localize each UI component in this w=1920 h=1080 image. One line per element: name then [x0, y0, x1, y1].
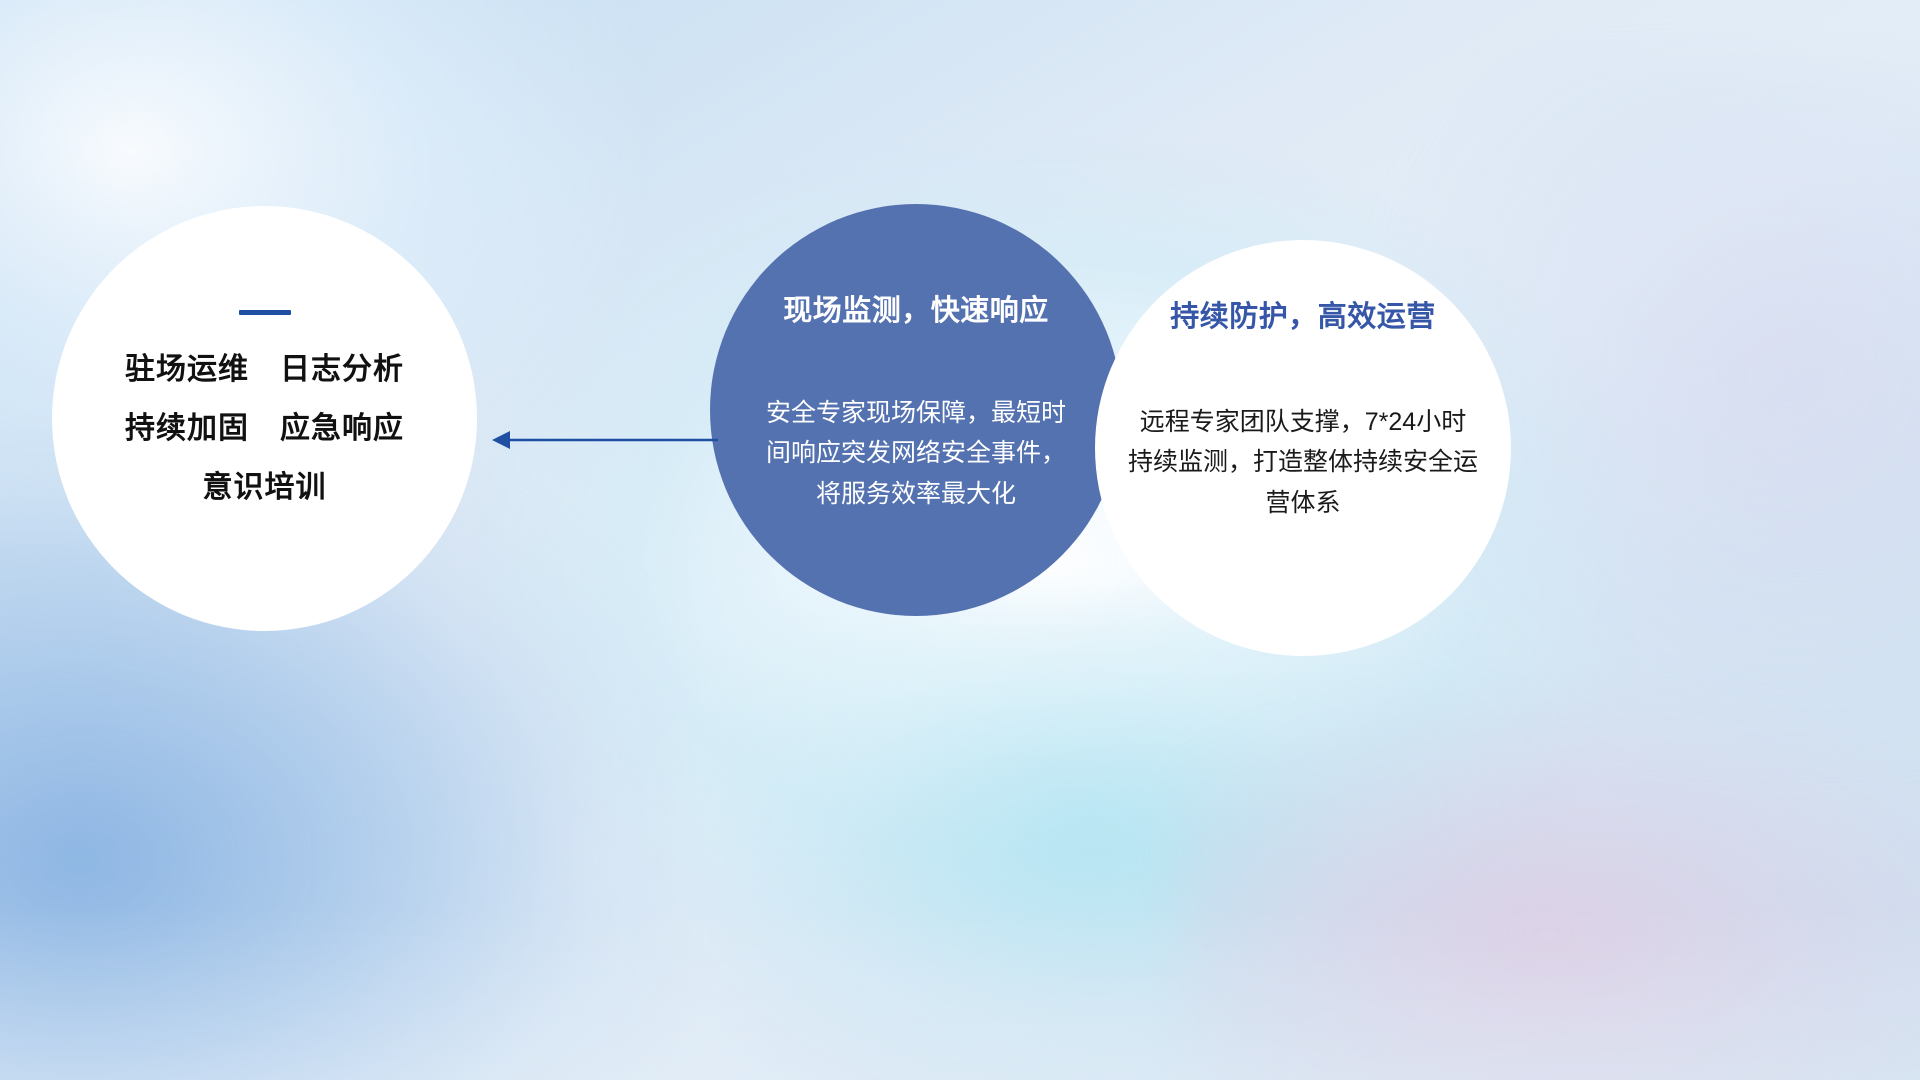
right-circle-title: 持续防护，高效运营	[1170, 302, 1436, 334]
slide-canvas: 驻场运维 日志分析 持续加固 应急响应 意识培训 现场监测，快速响应 安全专家现…	[0, 0, 1920, 1080]
left-capability-line-1: 驻场运维 日志分析	[125, 355, 404, 385]
left-circle-content: 驻场运维 日志分析 持续加固 应急响应 意识培训	[52, 206, 477, 631]
middle-circle-title: 现场监测，快速响应	[783, 296, 1049, 328]
right-circle-body: 远程专家团队支撑，7*24小时持续监测，打造整体持续安全运营体系	[1128, 402, 1478, 524]
left-capability-line-2: 持续加固 应急响应	[125, 414, 404, 444]
accent-dash-divider	[239, 310, 291, 315]
middle-circle-content: 现场监测，快速响应 安全专家现场保障，最短时间响应突发网络安全事件，将服务效率最…	[716, 204, 1116, 616]
background-bottom-haze	[0, 905, 1920, 1080]
right-circle-content: 持续防护，高效运营 远程专家团队支撑，7*24小时持续监测，打造整体持续安全运营…	[1098, 240, 1508, 656]
left-capability-line-3: 意识培训	[203, 473, 327, 503]
middle-circle-body: 安全专家现场保障，最短时间响应突发网络安全事件，将服务效率最大化	[766, 393, 1066, 515]
flow-arrow-icon	[480, 410, 720, 470]
